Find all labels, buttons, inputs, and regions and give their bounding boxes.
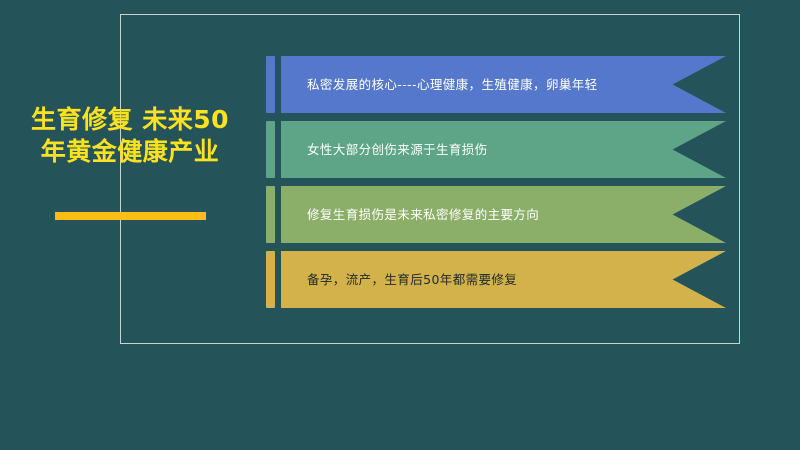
banner-tab-gap: [275, 251, 281, 308]
title-block: 生育修复 未来50年黄金健康产业: [20, 104, 240, 167]
banner-label: 修复生育损伤是未来私密修复的主要方向: [281, 207, 609, 222]
banner-body: 女性大部分创伤来源于生育损伤: [281, 121, 726, 178]
banner-item-3[interactable]: 修复生育损伤是未来私密修复的主要方向: [266, 186, 726, 243]
banner-tab-gap: [275, 186, 281, 243]
page-title: 生育修复 未来50年黄金健康产业: [20, 104, 240, 167]
banner-label: 女性大部分创伤来源于生育损伤: [281, 142, 558, 157]
banner-left-tab: [266, 186, 275, 243]
title-underline-rule: [55, 212, 206, 220]
banner-tab-gap: [275, 121, 281, 178]
banner-body: 修复生育损伤是未来私密修复的主要方向: [281, 186, 726, 243]
banner-body: 私密发展的核心----心理健康，生殖健康，卵巢年轻: [281, 56, 726, 113]
banner-item-2[interactable]: 女性大部分创伤来源于生育损伤: [266, 121, 726, 178]
banner-label: 私密发展的核心----心理健康，生殖健康，卵巢年轻: [281, 77, 668, 92]
banner-left-tab: [266, 121, 275, 178]
banner-item-1[interactable]: 私密发展的核心----心理健康，生殖健康，卵巢年轻: [266, 56, 726, 113]
banner-left-tab: [266, 56, 275, 113]
banner-tab-gap: [275, 56, 281, 113]
banner-item-4[interactable]: 备孕，流产，生育后50年都需要修复: [266, 251, 726, 308]
slide-canvas: 生育修复 未来50年黄金健康产业 私密发展的核心----心理健康，生殖健康，卵巢…: [0, 0, 800, 450]
banner-left-tab: [266, 251, 275, 308]
banner-list: 私密发展的核心----心理健康，生殖健康，卵巢年轻 女性大部分创伤来源于生育损伤…: [266, 56, 726, 316]
banner-body: 备孕，流产，生育后50年都需要修复: [281, 251, 726, 308]
banner-label: 备孕，流产，生育后50年都需要修复: [281, 272, 587, 287]
